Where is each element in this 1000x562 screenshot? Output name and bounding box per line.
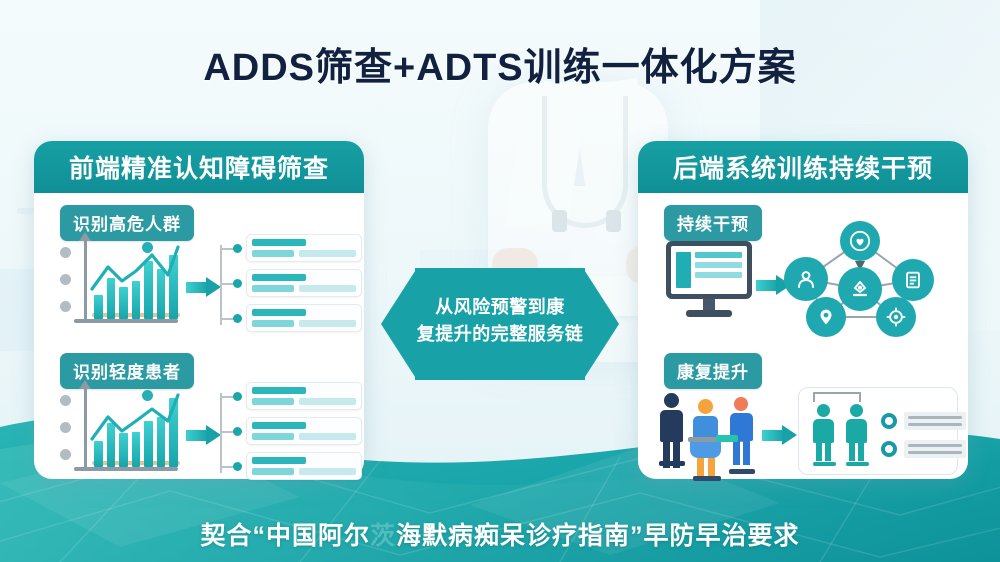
flow-arrow-4 — [762, 425, 796, 445]
footer-part-1: 契合“中国阿尔 — [200, 522, 370, 550]
flow-arrow-1 — [186, 277, 220, 297]
chip-rehab-improvement[interactable]: 康复提升 — [664, 353, 762, 389]
outcome-lines — [904, 440, 966, 458]
gear-node-icon[interactable] — [876, 297, 916, 337]
pentagon-network-diagram — [780, 221, 952, 339]
two-figures-icon — [813, 404, 869, 466]
y-axis — [84, 387, 87, 467]
heart-node-icon[interactable] — [840, 221, 880, 261]
list-item[interactable] — [246, 269, 362, 297]
person-node-icon[interactable] — [784, 257, 828, 301]
chart-trend-endpoint — [142, 390, 153, 401]
location-pin-node-icon[interactable] — [806, 297, 846, 337]
chip-continuous-intervention[interactable]: 持续干预 — [664, 205, 762, 241]
outcome-lines — [904, 412, 966, 430]
x-axis — [74, 467, 178, 471]
chart-trend-line — [88, 389, 184, 449]
section-continuous-intervention: 持续干预 — [652, 205, 954, 341]
center-node-icon[interactable] — [838, 267, 882, 311]
outcome-row[interactable] — [881, 440, 966, 458]
chart-axis-dots — [60, 247, 71, 328]
left-panel-body: 识别高危人群 — [34, 193, 364, 479]
list-item[interactable] — [246, 304, 362, 332]
section-rehab-improvement: 康复提升 — [652, 353, 954, 489]
left-panel-header: 前端精准认知障碍筛查 — [34, 141, 364, 193]
footer-caption: 契合“中国阿尔茨海默病痴呆诊疗指南”早防早治要求 — [0, 516, 1000, 552]
list-item[interactable] — [246, 417, 362, 445]
figure-clinician — [730, 397, 753, 465]
bar-chart-mild-patients — [58, 387, 178, 479]
center-flow-arrow: 从风险预警到康 复提升的完整服务链 — [381, 268, 619, 380]
flow-arrow-2 — [186, 425, 220, 445]
center-arrow-line-1: 从风险预警到康 — [409, 294, 591, 321]
y-axis — [84, 239, 87, 319]
section-identify-high-risk: 识别高危人群 — [48, 205, 350, 341]
list-item[interactable] — [246, 452, 362, 480]
ring-icon — [881, 413, 897, 429]
result-tree-2 — [220, 381, 364, 485]
document-node-icon[interactable] — [892, 259, 934, 301]
chart-trend-line — [88, 241, 184, 301]
right-panel-body: 持续干预 — [638, 193, 968, 479]
footer-faded-char: 茨 — [370, 522, 396, 550]
chart-axis-dots — [60, 395, 71, 476]
ring-icon — [881, 441, 897, 457]
left-panel: 前端精准认知障碍筛查 识别高危人群 — [34, 141, 364, 479]
chart-trend-endpoint — [142, 242, 153, 253]
list-item[interactable] — [246, 234, 362, 262]
result-tree-1 — [220, 233, 364, 337]
monitor-icon — [666, 241, 752, 319]
page-title: ADDS筛查+ADTS训练一体化方案 — [0, 36, 1000, 91]
outcome-card[interactable] — [798, 387, 958, 475]
center-arrow-line-2: 复提升的完整服务链 — [409, 321, 591, 348]
bar-chart-high-risk — [58, 239, 178, 331]
right-panel-header: 后端系统训练持续干预 — [638, 141, 968, 193]
x-axis — [74, 319, 178, 323]
footer-part-2: 海默病痴呆诊疗指南”早防早治要求 — [396, 522, 800, 550]
list-item[interactable] — [246, 382, 362, 410]
section-identify-mild-patients: 识别轻度患者 — [48, 353, 350, 489]
pairing-bracket — [813, 392, 861, 402]
figure-caregiver-dark — [660, 393, 683, 468]
outcome-row[interactable] — [881, 412, 966, 430]
right-panel: 后端系统训练持续干预 持续干预 — [638, 141, 968, 479]
patient-group-illustration — [660, 389, 772, 475]
